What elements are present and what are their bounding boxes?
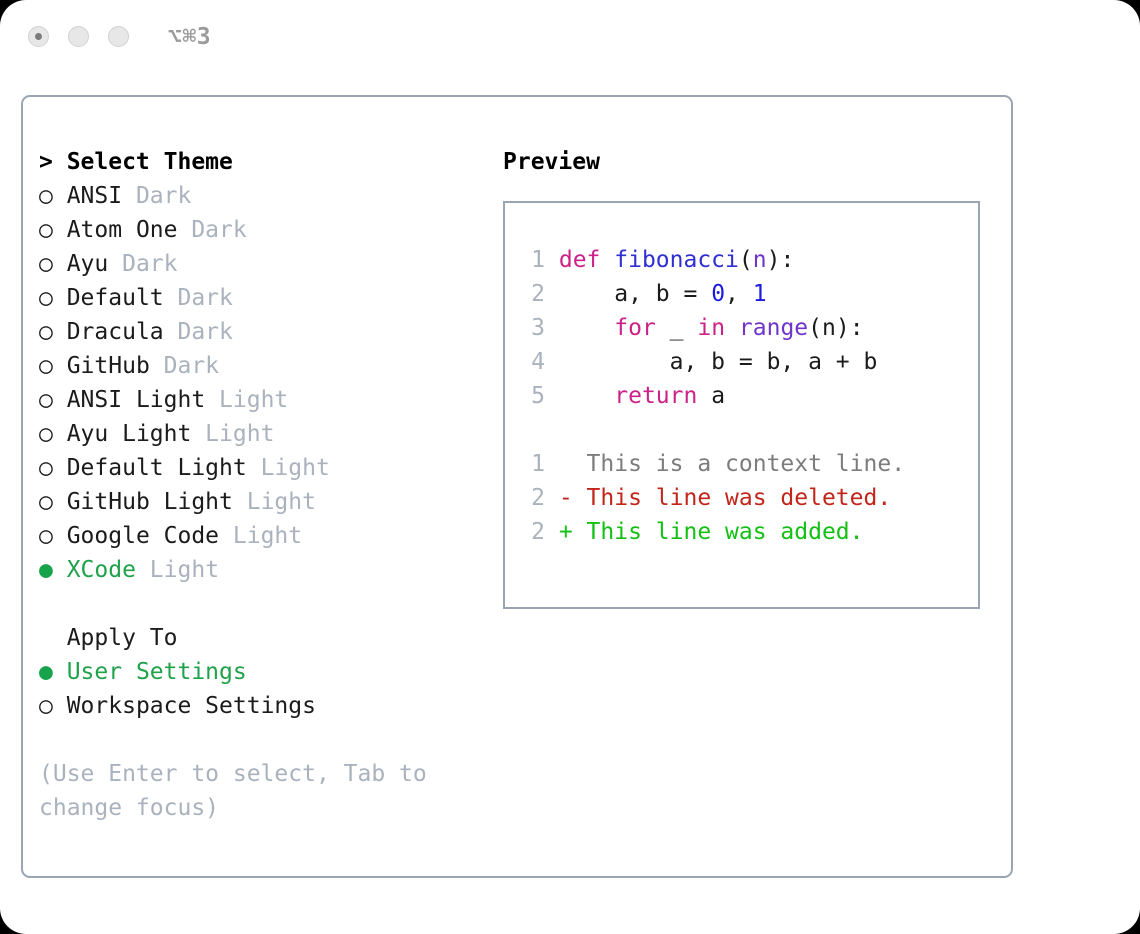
theme-list-item[interactable]: ○ Atom One Dark <box>39 213 469 247</box>
theme-list-item[interactable]: ○ Ayu Dark <box>39 247 469 281</box>
radio-unselected-icon: ○ <box>39 455 67 481</box>
code-diff-gap <box>521 413 966 447</box>
theme-category: Dark <box>177 217 246 243</box>
diff-text: - This line was deleted. <box>559 485 891 511</box>
gutter-space <box>545 247 559 273</box>
line-number: 2 <box>521 277 545 311</box>
line-number: 1 <box>521 243 545 277</box>
code-token: range <box>739 315 808 341</box>
code-line: 5 return a <box>521 379 966 413</box>
theme-name: Ayu <box>67 251 109 277</box>
theme-name: Default <box>67 285 164 311</box>
radio-unselected-icon: ○ <box>39 421 67 447</box>
theme-category: Light <box>247 455 330 481</box>
radio-unselected-icon: ○ <box>39 319 67 345</box>
line-number: 3 <box>521 311 545 345</box>
theme-category: Dark <box>164 285 233 311</box>
theme-list-item[interactable]: ○ GitHub Dark <box>39 349 469 383</box>
apply-to-label: Workspace Settings <box>67 693 316 719</box>
theme-name: Atom One <box>67 217 178 243</box>
theme-name: Default Light <box>67 455 247 481</box>
radio-selected-icon: ● <box>39 659 67 685</box>
diff-line: 2 + This line was added. <box>521 515 966 549</box>
theme-list: ○ ANSI Dark○ Atom One Dark○ Ayu Dark○ De… <box>39 179 469 587</box>
theme-name: ANSI Light <box>67 387 205 413</box>
code-token: fibonacci <box>614 247 739 273</box>
code-token: a <box>697 383 725 409</box>
code-token: a, b = <box>559 281 711 307</box>
code-token: for <box>614 315 656 341</box>
apply-to-label: User Settings <box>67 659 247 685</box>
theme-list-item[interactable]: ○ Ayu Light Light <box>39 417 469 451</box>
preview-content: 1 def fibonacci(n):2 a, b = 0, 13 for _ … <box>521 243 966 549</box>
theme-name: GitHub Light <box>67 489 233 515</box>
theme-category: Light <box>136 557 219 583</box>
line-number: 2 <box>521 515 545 549</box>
select-theme-header: > Select Theme <box>39 145 469 179</box>
theme-name: Ayu Light <box>67 421 192 447</box>
line-number: 2 <box>521 481 545 515</box>
gutter-space <box>545 315 559 341</box>
gutter-space <box>545 451 559 477</box>
theme-selection-panel: > Select Theme ○ ANSI Dark○ Atom One Dar… <box>39 145 469 825</box>
gutter-space <box>545 383 559 409</box>
theme-name: GitHub <box>67 353 150 379</box>
theme-name: ANSI <box>67 183 122 209</box>
theme-list-item[interactable]: ○ Default Light Light <box>39 451 469 485</box>
theme-category: Dark <box>122 183 191 209</box>
title-bar: ⌥⌘3 <box>0 0 1140 78</box>
theme-category: Dark <box>164 319 233 345</box>
code-line: 2 a, b = 0, 1 <box>521 277 966 311</box>
keyboard-shortcut-label: ⌥⌘3 <box>168 24 211 50</box>
code-sample: 1 def fibonacci(n):2 a, b = 0, 13 for _ … <box>521 243 966 413</box>
theme-category: Light <box>219 523 302 549</box>
theme-list-item[interactable]: ● XCode Light <box>39 553 469 587</box>
gutter-space <box>545 281 559 307</box>
theme-list-item[interactable]: ○ Default Dark <box>39 281 469 315</box>
radio-unselected-icon: ○ <box>39 387 67 413</box>
radio-unselected-icon: ○ <box>39 183 67 209</box>
code-token: def <box>559 247 614 273</box>
code-token <box>725 315 739 341</box>
theme-name: XCode <box>67 557 136 583</box>
theme-list-item[interactable]: ○ ANSI Light Light <box>39 383 469 417</box>
radio-selected-icon: ● <box>39 557 67 583</box>
section-spacer <box>39 587 469 621</box>
code-token <box>559 315 614 341</box>
theme-category: Light <box>191 421 274 447</box>
theme-name: Google Code <box>67 523 219 549</box>
code-token: _ <box>656 315 698 341</box>
radio-unselected-icon: ○ <box>39 523 67 549</box>
diff-line: 2 - This line was deleted. <box>521 481 966 515</box>
code-token: return <box>614 383 697 409</box>
line-number: 4 <box>521 345 545 379</box>
code-token: , <box>725 281 753 307</box>
apply-to-option[interactable]: ● User Settings <box>39 655 469 689</box>
radio-unselected-icon: ○ <box>39 217 67 243</box>
code-token: in <box>697 315 725 341</box>
code-token: 0 <box>711 281 725 307</box>
radio-unselected-icon: ○ <box>39 251 67 277</box>
window-button-close[interactable] <box>28 26 49 47</box>
theme-list-item[interactable]: ○ ANSI Dark <box>39 179 469 213</box>
preview-panel: Preview 1 def fibonacci(n):2 a, b = 0, 1… <box>503 145 993 609</box>
app-window: ⌥⌘3 > Select Theme ○ ANSI Dark○ Atom One… <box>0 0 1140 934</box>
line-number: 5 <box>521 379 545 413</box>
gutter-space <box>545 349 559 375</box>
preview-title: Preview <box>503 145 993 179</box>
code-line: 4 a, b = b, a + b <box>521 345 966 379</box>
diff-line: 1 This is a context line. <box>521 447 966 481</box>
diff-sample: 1 This is a context line.2 - This line w… <box>521 447 966 549</box>
diff-text: + This line was added. <box>559 519 864 545</box>
apply-to-option[interactable]: ○ Workspace Settings <box>39 689 469 723</box>
radio-unselected-icon: ○ <box>39 285 67 311</box>
theme-category: Light <box>205 387 288 413</box>
theme-name: Dracula <box>67 319 164 345</box>
window-controls <box>28 26 129 47</box>
code-token: n <box>753 247 767 273</box>
line-number: 1 <box>521 447 545 481</box>
gutter-space <box>545 485 559 511</box>
theme-category: Dark <box>150 353 219 379</box>
code-token: (n): <box>808 315 863 341</box>
code-token: ( <box>739 247 753 273</box>
gutter-space <box>545 519 559 545</box>
apply-to-list: ● User Settings○ Workspace Settings <box>39 655 469 723</box>
code-token: ): <box>767 247 795 273</box>
keyboard-hint-text: (Use Enter to select, Tab to change focu… <box>39 757 449 825</box>
theme-category: Dark <box>108 251 177 277</box>
theme-list-item[interactable]: ○ Google Code Light <box>39 519 469 553</box>
diff-text: This is a context line. <box>559 451 905 477</box>
code-token <box>559 383 614 409</box>
preview-box: 1 def fibonacci(n):2 a, b = 0, 13 for _ … <box>503 201 980 609</box>
code-line: 1 def fibonacci(n): <box>521 243 966 277</box>
window-button-maximize[interactable] <box>108 26 129 47</box>
theme-category: Light <box>233 489 316 515</box>
code-line: 3 for _ in range(n): <box>521 311 966 345</box>
theme-picker-dialog: > Select Theme ○ ANSI Dark○ Atom One Dar… <box>21 95 1013 878</box>
active-dot-icon <box>35 33 42 40</box>
code-token: 1 <box>753 281 767 307</box>
radio-unselected-icon: ○ <box>39 353 67 379</box>
window-button-minimize[interactable] <box>68 26 89 47</box>
code-token: a, b = b, a + b <box>559 349 878 375</box>
theme-list-item[interactable]: ○ Dracula Dark <box>39 315 469 349</box>
radio-unselected-icon: ○ <box>39 489 67 515</box>
apply-to-header: Apply To <box>39 621 469 655</box>
theme-list-item[interactable]: ○ GitHub Light Light <box>39 485 469 519</box>
radio-unselected-icon: ○ <box>39 693 67 719</box>
